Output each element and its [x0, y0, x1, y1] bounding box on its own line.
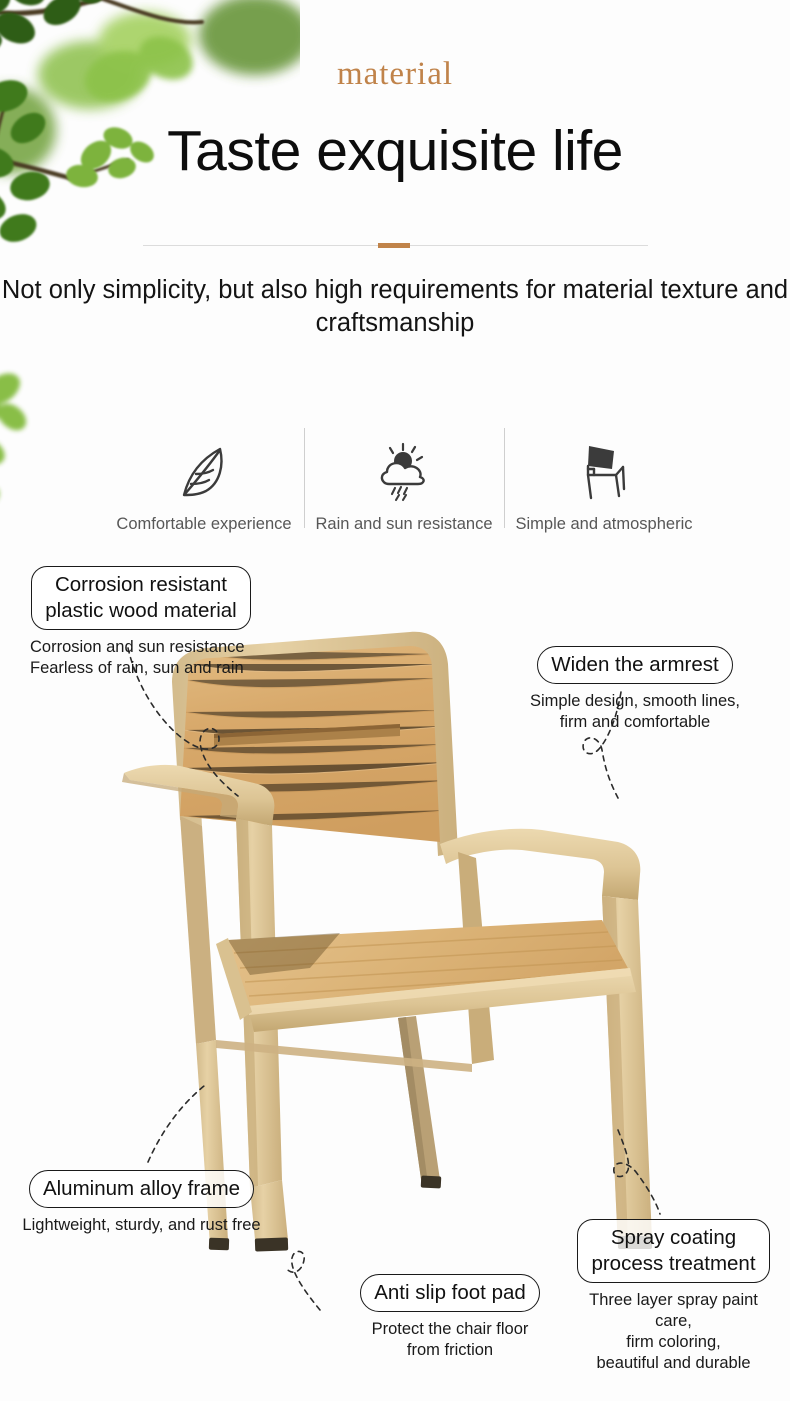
- feature-item-weather: Rain and sun resistance: [304, 424, 504, 534]
- callout-corrosion: Corrosion resistant plastic wood materia…: [16, 566, 266, 679]
- callout-description: Protect the chair floor from friction: [352, 1319, 548, 1361]
- eyebrow-label: material: [0, 56, 790, 93]
- page-subtitle: Not only simplicity, but also high requi…: [0, 274, 790, 340]
- feature-item-comfort: Comfortable experience: [104, 424, 304, 534]
- callout-footpad: Anti slip foot pad Protect the chair flo…: [352, 1274, 548, 1361]
- callout-description: Corrosion and sun resistance Fearless of…: [16, 637, 266, 679]
- leaf-icon: [176, 441, 232, 503]
- feature-label: Comfortable experience: [116, 515, 291, 534]
- callout-armrest: Widen the armrest Simple design, smooth …: [519, 646, 751, 733]
- chair-icon: [576, 441, 632, 503]
- callout-title[interactable]: Anti slip foot pad: [360, 1274, 540, 1312]
- foliage-mid-left-decoration: [0, 355, 74, 545]
- callout-aluminum: Aluminum alloy frame Lightweight, sturdy…: [9, 1170, 274, 1236]
- callout-description: Simple design, smooth lines, firm and co…: [519, 691, 751, 733]
- divider-accent-mark: [378, 243, 410, 248]
- title-divider: [143, 243, 648, 249]
- callout-title[interactable]: Widen the armrest: [537, 646, 732, 684]
- feature-label: Simple and atmospheric: [515, 515, 692, 534]
- callout-spray: Spray coating process treatment Three la…: [576, 1219, 771, 1374]
- page-title: Taste exquisite life: [0, 118, 790, 184]
- feature-item-style: Simple and atmospheric: [504, 424, 704, 534]
- callout-title[interactable]: Aluminum alloy frame: [29, 1170, 254, 1208]
- callout-description: Lightweight, sturdy, and rust free: [9, 1215, 274, 1236]
- sun-rain-icon: [373, 441, 435, 503]
- feature-strip: Comfortable experience: [104, 424, 704, 534]
- feature-label: Rain and sun resistance: [315, 515, 492, 534]
- callout-description: Three layer spray paint care, firm color…: [576, 1290, 771, 1374]
- callout-title[interactable]: Spray coating process treatment: [577, 1219, 769, 1283]
- callout-title[interactable]: Corrosion resistant plastic wood materia…: [31, 566, 250, 630]
